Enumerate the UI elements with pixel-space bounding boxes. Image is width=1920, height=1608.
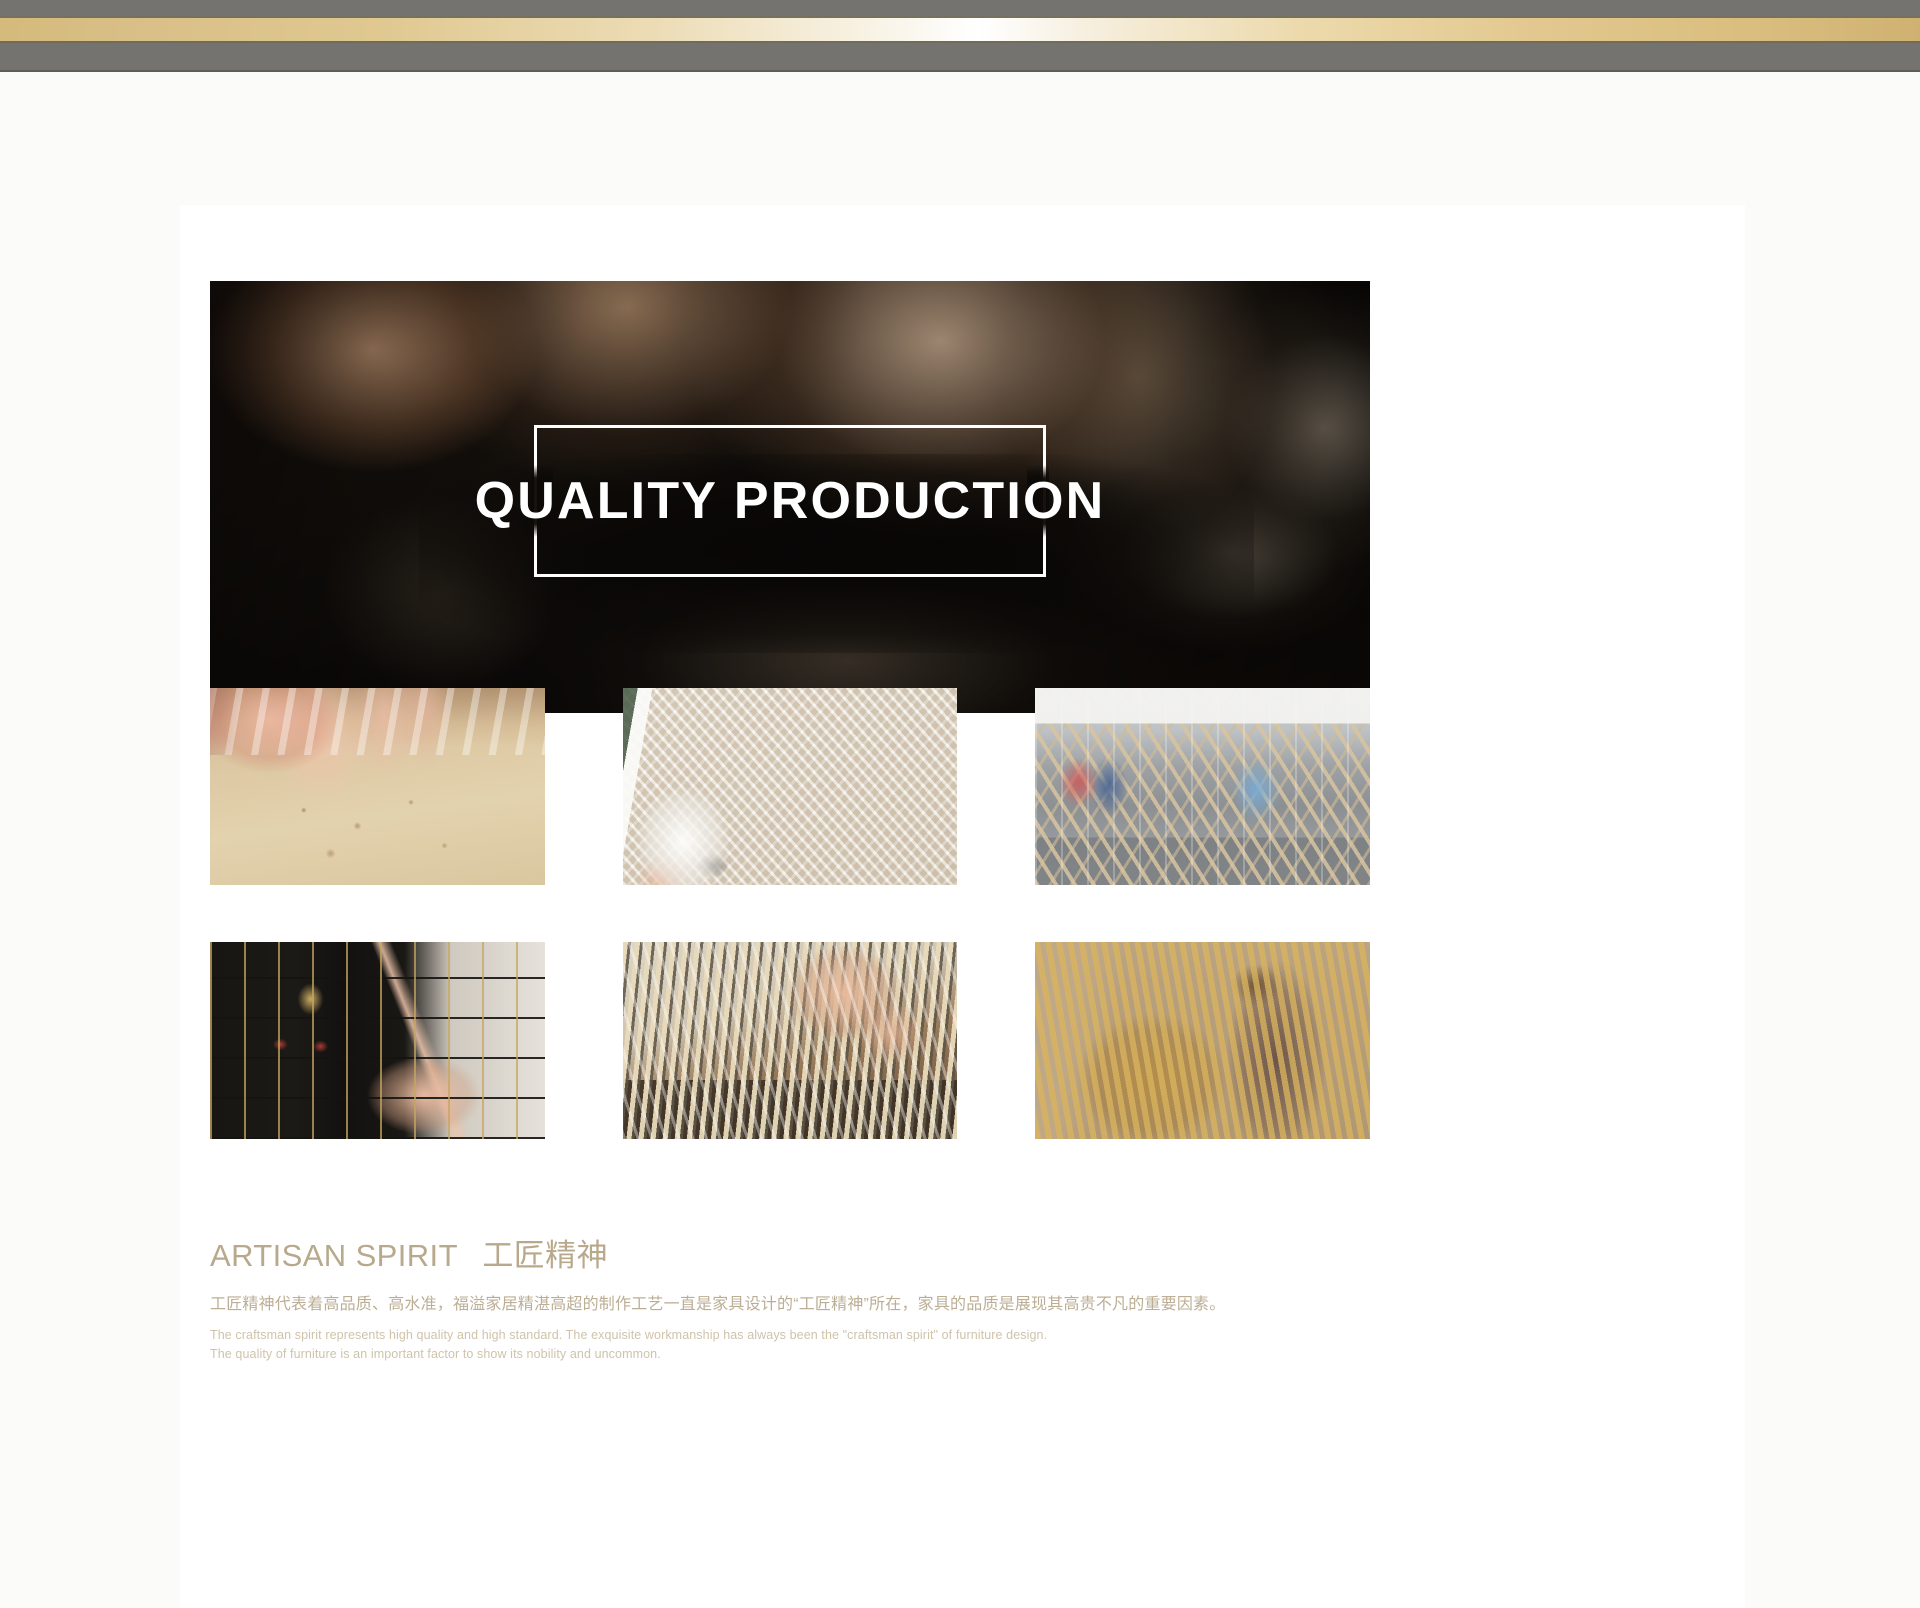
content-container: QUALITY PRODUCTION: [180, 205, 1745, 1608]
caption-block: ARTISAN SPIRIT 工匠精神 工匠精神代表着高品质、高水准，福溢家居精…: [210, 1237, 1610, 1365]
frame-line-top: [534, 425, 1046, 428]
photo-factory-floor[interactable]: [1035, 688, 1370, 885]
caption-body-english-line2: The quality of furniture is an important…: [210, 1345, 1610, 1364]
photo-hand-carving[interactable]: [623, 942, 958, 1139]
photo-image: [210, 688, 545, 885]
caption-heading: ARTISAN SPIRIT 工匠精神: [210, 1237, 1610, 1274]
hero-title-frame: QUALITY PRODUCTION: [534, 425, 1046, 577]
photo-veneer-marquetry[interactable]: [210, 688, 545, 885]
top-decorative-banner: [0, 0, 1920, 72]
photo-image: [1035, 942, 1370, 1139]
hero-title: QUALITY PRODUCTION: [469, 475, 1112, 527]
gold-gradient-stripe: [0, 18, 1920, 41]
frame-line-bottom: [534, 574, 1046, 577]
caption-body-english-line1: The craftsman spirit represents high qua…: [210, 1326, 1610, 1345]
photo-image: [623, 942, 958, 1139]
caption-body-chinese: 工匠精神代表着高品质、高水准，福溢家居精湛高超的制作工艺一直是家具设计的“工匠精…: [210, 1292, 1610, 1318]
banner-hairline-bottom: [0, 41, 1920, 43]
caption-heading-cn: 工匠精神: [482, 1238, 608, 1273]
photo-image: [210, 942, 545, 1139]
photo-image: [1035, 688, 1370, 885]
photo-row-1: [210, 688, 1370, 885]
hero-title-wrap: QUALITY PRODUCTION: [210, 421, 1370, 581]
page-background: QUALITY PRODUCTION: [0, 72, 1920, 1608]
photo-row-2: [210, 942, 1370, 1139]
caption-heading-en: ARTISAN SPIRIT: [210, 1238, 457, 1273]
hero-banner-image: QUALITY PRODUCTION: [210, 281, 1370, 713]
photo-fabric-cutting[interactable]: [623, 688, 958, 885]
production-photo-grid: [210, 688, 1370, 1196]
photo-image: [623, 688, 958, 885]
photo-lacquer-gilding[interactable]: [210, 942, 545, 1139]
photo-gilded-chairs[interactable]: [1035, 942, 1370, 1139]
